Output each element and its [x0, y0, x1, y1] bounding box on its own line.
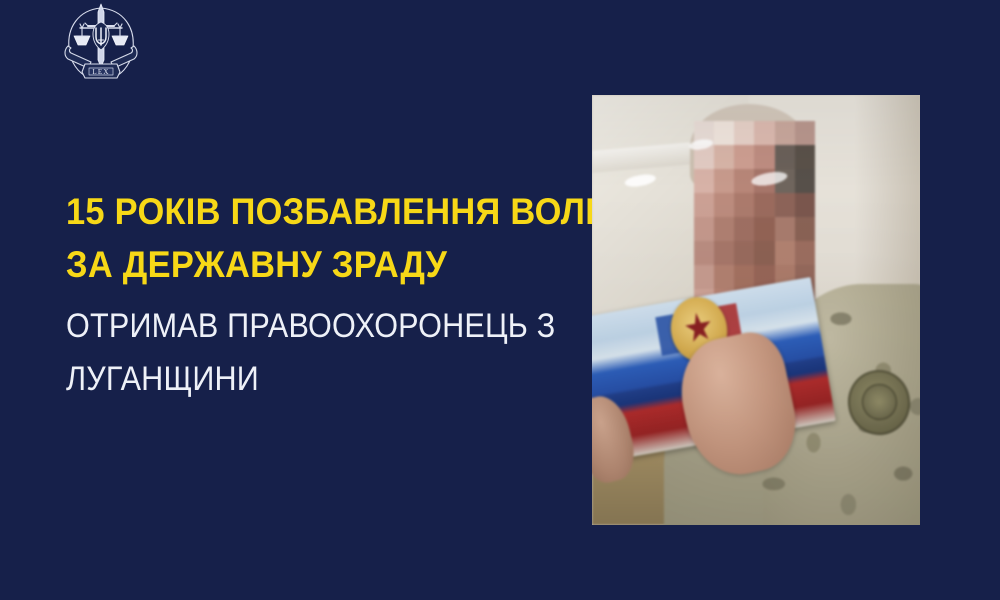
face-pixel: [734, 169, 754, 193]
face-pixel: [714, 145, 734, 169]
face-pixel: [754, 121, 774, 145]
subheadline-line-1: ОТРИМАВ ПРАВООХОРОНЕЦЬ З: [66, 300, 534, 353]
face-pixel: [795, 241, 815, 265]
face-pixel: [795, 121, 815, 145]
face-pixel: [775, 121, 795, 145]
face-pixel: [714, 265, 734, 289]
face-pixel: [775, 145, 795, 169]
headline-line-1: 15 РОКІВ ПОЗБАВЛЕННЯ ВОЛІ: [66, 186, 550, 239]
face-pixel: [775, 241, 795, 265]
face-pixel: [734, 193, 754, 217]
poster-canvas: LEX 15 РОКІВ ПОЗБАВЛЕННЯ ВОЛІ ЗА ДЕРЖАВН…: [0, 0, 1000, 600]
face-pixel: [694, 217, 714, 241]
prosecutor-general-emblem: LEX: [58, 2, 144, 86]
face-pixel: [734, 121, 754, 145]
face-pixel: [694, 145, 714, 169]
face-pixel: [714, 193, 734, 217]
face-pixel: [734, 265, 754, 289]
face-pixel: [775, 193, 795, 217]
face-pixel: [775, 217, 795, 241]
face-pixel: [734, 241, 754, 265]
face-pixel: [754, 169, 774, 193]
face-pixel: [694, 169, 714, 193]
face-pixel: [754, 217, 774, 241]
emblem-ribbon-text: LEX: [92, 68, 109, 76]
headline-line-2: ЗА ДЕРЖАВНУ ЗРАДУ: [66, 239, 550, 292]
face-pixel: [714, 241, 734, 265]
face-pixel: [795, 145, 815, 169]
face-pixel: [734, 145, 754, 169]
face-pixel: [754, 145, 774, 169]
face-pixel: [714, 169, 734, 193]
censored-photo: [592, 95, 920, 525]
headline-text-block: 15 РОКІВ ПОЗБАВЛЕННЯ ВОЛІ ЗА ДЕРЖАВНУ ЗР…: [66, 186, 586, 407]
face-pixel: [714, 121, 734, 145]
face-pixel: [754, 193, 774, 217]
face-pixel: [795, 169, 815, 193]
face-pixel: [694, 265, 714, 289]
face-pixel: [795, 193, 815, 217]
face-pixel: [694, 193, 714, 217]
face-pixel: [734, 217, 754, 241]
face-pixel: [775, 169, 795, 193]
face-pixel: [795, 217, 815, 241]
face-pixel: [714, 217, 734, 241]
face-pixel: [694, 121, 714, 145]
face-pixel: [754, 241, 774, 265]
face-pixel: [694, 241, 714, 265]
subheadline-line-2: ЛУГАНЩИНИ: [66, 353, 534, 406]
